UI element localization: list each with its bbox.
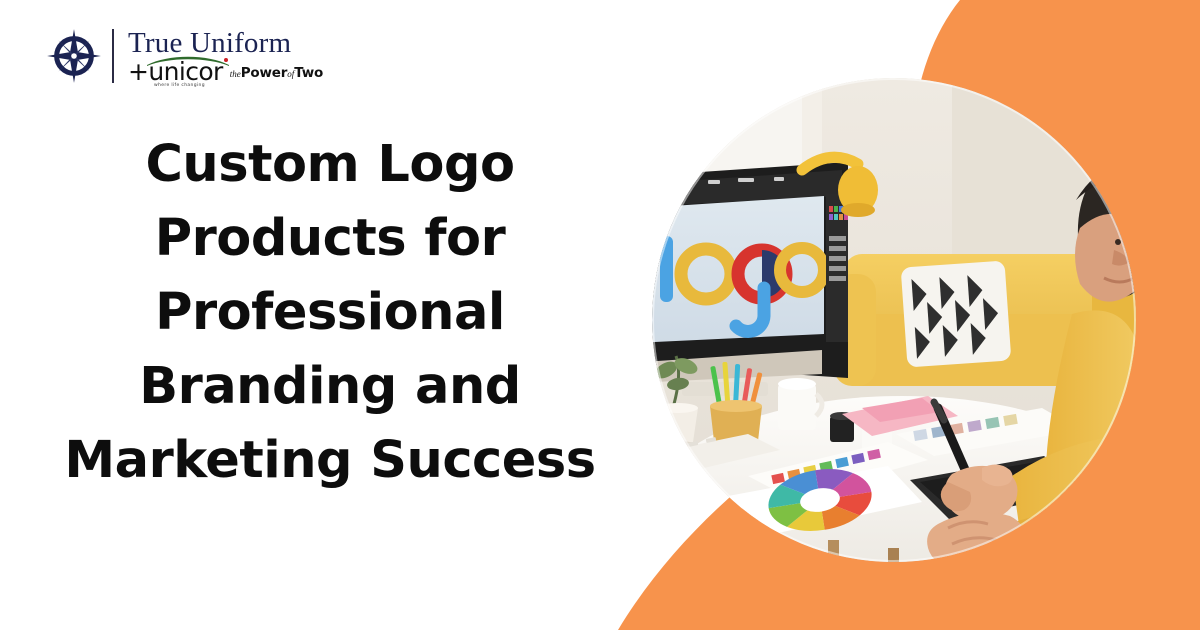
unicor-red-dot-icon	[224, 58, 228, 62]
unicor-green-arc-icon	[146, 54, 230, 66]
brand-logo-lockup[interactable]: True Uniform +unicor where life changing…	[46, 26, 323, 86]
desk-leg-left	[828, 540, 839, 562]
hero-photo-circle	[652, 78, 1136, 562]
slogan-the: the	[230, 69, 241, 79]
page-title: Custom Logo Products for Professional Br…	[0, 128, 660, 498]
patterned-cushion	[901, 260, 1012, 367]
compass-rose-icon	[46, 26, 102, 86]
unicor-tagline: where life changing	[154, 83, 205, 89]
logo-letter-l	[660, 236, 673, 302]
slogan-power: Power	[241, 65, 287, 81]
slogan-two: Two	[294, 65, 323, 81]
logo-text-column: True Uniform +unicor where life changing…	[128, 28, 323, 85]
photo-content	[652, 78, 1136, 562]
monitor-tool-panel	[826, 194, 848, 342]
unicor-mark: +unicor where life changing	[128, 59, 223, 85]
unicor-lockup-row: +unicor where life changing thePowerofTw…	[128, 59, 323, 85]
designer-head	[1075, 170, 1136, 302]
power-of-two-slogan: thePowerofTwo	[230, 64, 323, 85]
logo-divider	[112, 29, 114, 83]
desk-leg-right	[888, 548, 899, 562]
